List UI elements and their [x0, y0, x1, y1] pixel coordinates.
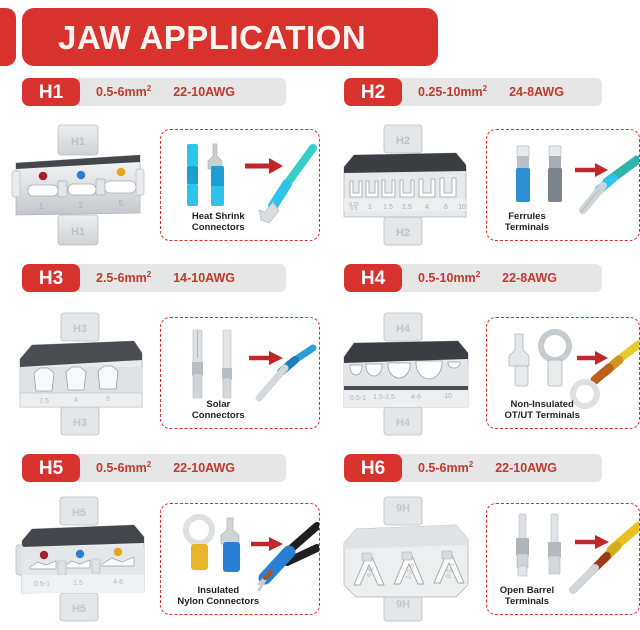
application-box-h1: Heat ShrinkConnectors [160, 129, 320, 241]
svg-text:H4: H4 [396, 323, 411, 335]
spec-values-h4: 0.5-10mm2 22-8AWG [396, 264, 602, 292]
jaw-code-badge-h1: H1 [22, 78, 80, 106]
svg-text:H2: H2 [396, 227, 410, 239]
svg-text:2: 2 [79, 201, 84, 210]
jaw-die-image-h4: H4 H4 [332, 307, 482, 439]
svg-text:H5: H5 [72, 507, 86, 519]
spec-bar-h1: H1 0.5-6mm2 22-10AWG [22, 78, 286, 106]
spec-awg-h2: 24-8AWG [509, 86, 564, 99]
svg-text:2.5: 2.5 [402, 204, 412, 211]
jaw-cell-h6: H6 0.5-6mm2 22-10AWG H6 H6 [330, 448, 640, 630]
svg-text:H2: H2 [396, 135, 410, 147]
application-box-h4: Non-InsulatedOT/UT Terminals [486, 317, 640, 429]
svg-text:H6: H6 [396, 501, 410, 513]
jaw-die-image-h2: H2 H2 0. [332, 119, 482, 251]
spec-mm-h3: 2.5-6mm2 [96, 271, 151, 285]
application-box-h2: FerrulesTerminals [486, 129, 640, 241]
svg-text:H1: H1 [71, 226, 85, 238]
spec-bar-h3: H3 2.5-6mm2 14-10AWG [22, 264, 286, 292]
svg-text:H3: H3 [73, 417, 87, 429]
cell-content-h5: H5 H5 [0, 488, 330, 630]
spec-awg-h1: 22-10AWG [173, 86, 235, 99]
application-label-h4: Non-InsulatedOT/UT Terminals [491, 400, 593, 422]
jaw-die-image-h1: H1 H1 1 [6, 119, 156, 251]
jaw-grid: H1 0.5-6mm2 22-10AWG [0, 72, 640, 630]
jaw-code-badge-h5: H5 [22, 454, 80, 482]
svg-text:1.5-2.5: 1.5-2.5 [373, 394, 395, 401]
svg-text:10: 10 [458, 204, 466, 211]
spec-values-h5: 0.5-6mm2 22-10AWG [74, 454, 286, 482]
jaw-die-image-h6: H6 H6 [332, 493, 482, 625]
jaw-code-badge-h2: H2 [344, 78, 402, 106]
jaw-application-page: JAW APPLICATION H1 0.5-6mm2 22-10AWG [0, 0, 640, 630]
svg-text:H3: H3 [73, 323, 87, 335]
svg-text:2.5: 2.5 [39, 398, 49, 405]
svg-text:1.5: 1.5 [383, 204, 393, 211]
spec-awg-h5: 22-10AWG [173, 462, 235, 475]
jaw-die-image-h5: H5 H5 [6, 493, 156, 625]
header-banner: JAW APPLICATION [22, 8, 438, 66]
svg-text:4: 4 [425, 204, 429, 211]
svg-text:10: 10 [444, 393, 452, 400]
jaw-cell-h2: H2 0.25-10mm2 24-8AWG H2 H2 [330, 72, 640, 258]
svg-text:4-6: 4-6 [113, 579, 123, 586]
svg-text:1: 1 [368, 204, 372, 211]
spec-awg-h4: 22-8AWG [502, 272, 557, 285]
application-box-h6: Open BarrelTerminals [486, 503, 640, 615]
spec-mm-h4: 0.5-10mm2 [418, 271, 480, 285]
spec-values-h2: 0.25-10mm2 24-8AWG [396, 78, 602, 106]
svg-text:0.5-1: 0.5-1 [34, 581, 50, 588]
jaw-code-badge-h3: H3 [22, 264, 80, 292]
svg-text:1.5: 1.5 [73, 580, 83, 587]
application-label-h6: Open BarrelTerminals [491, 586, 563, 608]
application-label-h5: InsulatedNylon Connectors [165, 586, 272, 608]
svg-text:H1: H1 [71, 136, 85, 148]
svg-text:H5: H5 [72, 603, 86, 615]
jaw-die-image-h3: H3 H3 2.5 4 6 [6, 307, 156, 439]
svg-text:H4: H4 [396, 417, 411, 429]
spec-mm-h6: 0.5-6mm2 [418, 461, 473, 475]
spec-bar-h6: H6 0.5-6mm2 22-10AWG [344, 454, 602, 482]
spec-values-h3: 2.5-6mm2 14-10AWG [74, 264, 286, 292]
svg-text:6: 6 [444, 204, 448, 211]
svg-text:H6: H6 [396, 597, 410, 609]
header-left-accent [0, 8, 16, 66]
header: JAW APPLICATION [0, 8, 640, 66]
jaw-cell-h1: H1 0.5-6mm2 22-10AWG [0, 72, 330, 258]
spec-bar-h4: H4 0.5-10mm2 22-8AWG [344, 264, 602, 292]
application-box-h3: SolarConnectors [160, 317, 320, 429]
cell-content-h2: H2 H2 0. [330, 112, 640, 258]
spec-awg-h6: 22-10AWG [495, 462, 557, 475]
jaw-code-badge-h4: H4 [344, 264, 402, 292]
spec-mm-h1: 0.5-6mm2 [96, 85, 151, 99]
jaw-cell-h5: H5 0.5-6mm2 22-10AWG H5 H5 [0, 448, 330, 630]
cell-content-h3: H3 H3 2.5 4 6 [0, 298, 330, 448]
spec-values-h6: 0.5-6mm2 22-10AWG [396, 454, 602, 482]
application-label-h3: SolarConnectors [165, 400, 272, 422]
jaw-cell-h3: H3 2.5-6mm2 14-10AWG H3 H3 [0, 258, 330, 448]
svg-text:4: 4 [74, 397, 78, 404]
page-title: JAW APPLICATION [22, 21, 366, 54]
svg-text:0.5: 0.5 [351, 206, 358, 212]
cell-content-h6: H6 H6 [330, 488, 640, 630]
svg-text:5: 5 [119, 199, 124, 208]
cell-content-h1: H1 H1 1 [0, 112, 330, 258]
svg-text:1: 1 [39, 202, 44, 211]
svg-text:4-6: 4-6 [411, 394, 421, 401]
jaw-code-badge-h6: H6 [344, 454, 402, 482]
jaw-cell-h4: H4 0.5-10mm2 22-8AWG H4 H4 [330, 258, 640, 448]
spec-awg-h3: 14-10AWG [173, 272, 235, 285]
application-label-h2: FerrulesTerminals [491, 212, 563, 234]
spec-bar-h2: H2 0.25-10mm2 24-8AWG [344, 78, 602, 106]
svg-text:6: 6 [106, 396, 110, 403]
application-box-h5: InsulatedNylon Connectors [160, 503, 320, 615]
spec-values-h1: 0.5-6mm2 22-10AWG [74, 78, 286, 106]
cell-content-h4: H4 H4 [330, 298, 640, 448]
spec-mm-h5: 0.5-6mm2 [96, 461, 151, 475]
application-label-h1: Heat ShrinkConnectors [165, 212, 272, 234]
svg-text:0.5-1: 0.5-1 [350, 395, 366, 402]
spec-mm-h2: 0.25-10mm2 [418, 85, 487, 99]
spec-bar-h5: H5 0.5-6mm2 22-10AWG [22, 454, 286, 482]
